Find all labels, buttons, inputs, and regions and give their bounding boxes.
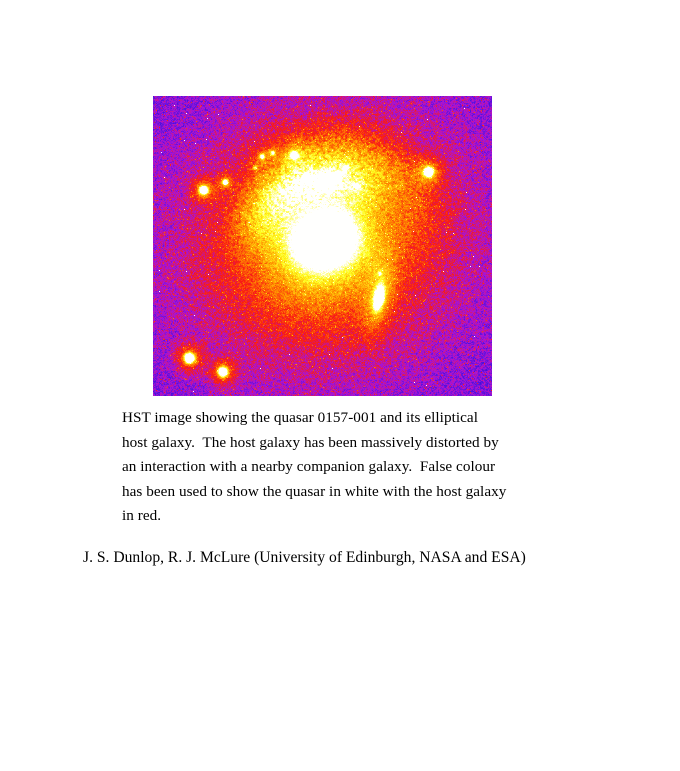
caption-line-3: an interaction with a nearby companion g… <box>122 455 602 480</box>
caption-line-5: in red. <box>122 504 602 529</box>
attribution-text: J. S. Dunlop, R. J. McLure (University o… <box>83 547 623 569</box>
figure-caption: HST image showing the quasar 0157-001 an… <box>122 406 602 529</box>
hst-false-colour-image <box>153 96 492 396</box>
caption-line-1: HST image showing the quasar 0157-001 an… <box>122 406 602 431</box>
astro-image-canvas <box>153 96 492 396</box>
caption-line-4: has been used to show the quasar in whit… <box>122 480 602 505</box>
figure-attribution: J. S. Dunlop, R. J. McLure (University o… <box>83 547 623 569</box>
caption-line-2: host galaxy. The host galaxy has been ma… <box>122 431 602 456</box>
